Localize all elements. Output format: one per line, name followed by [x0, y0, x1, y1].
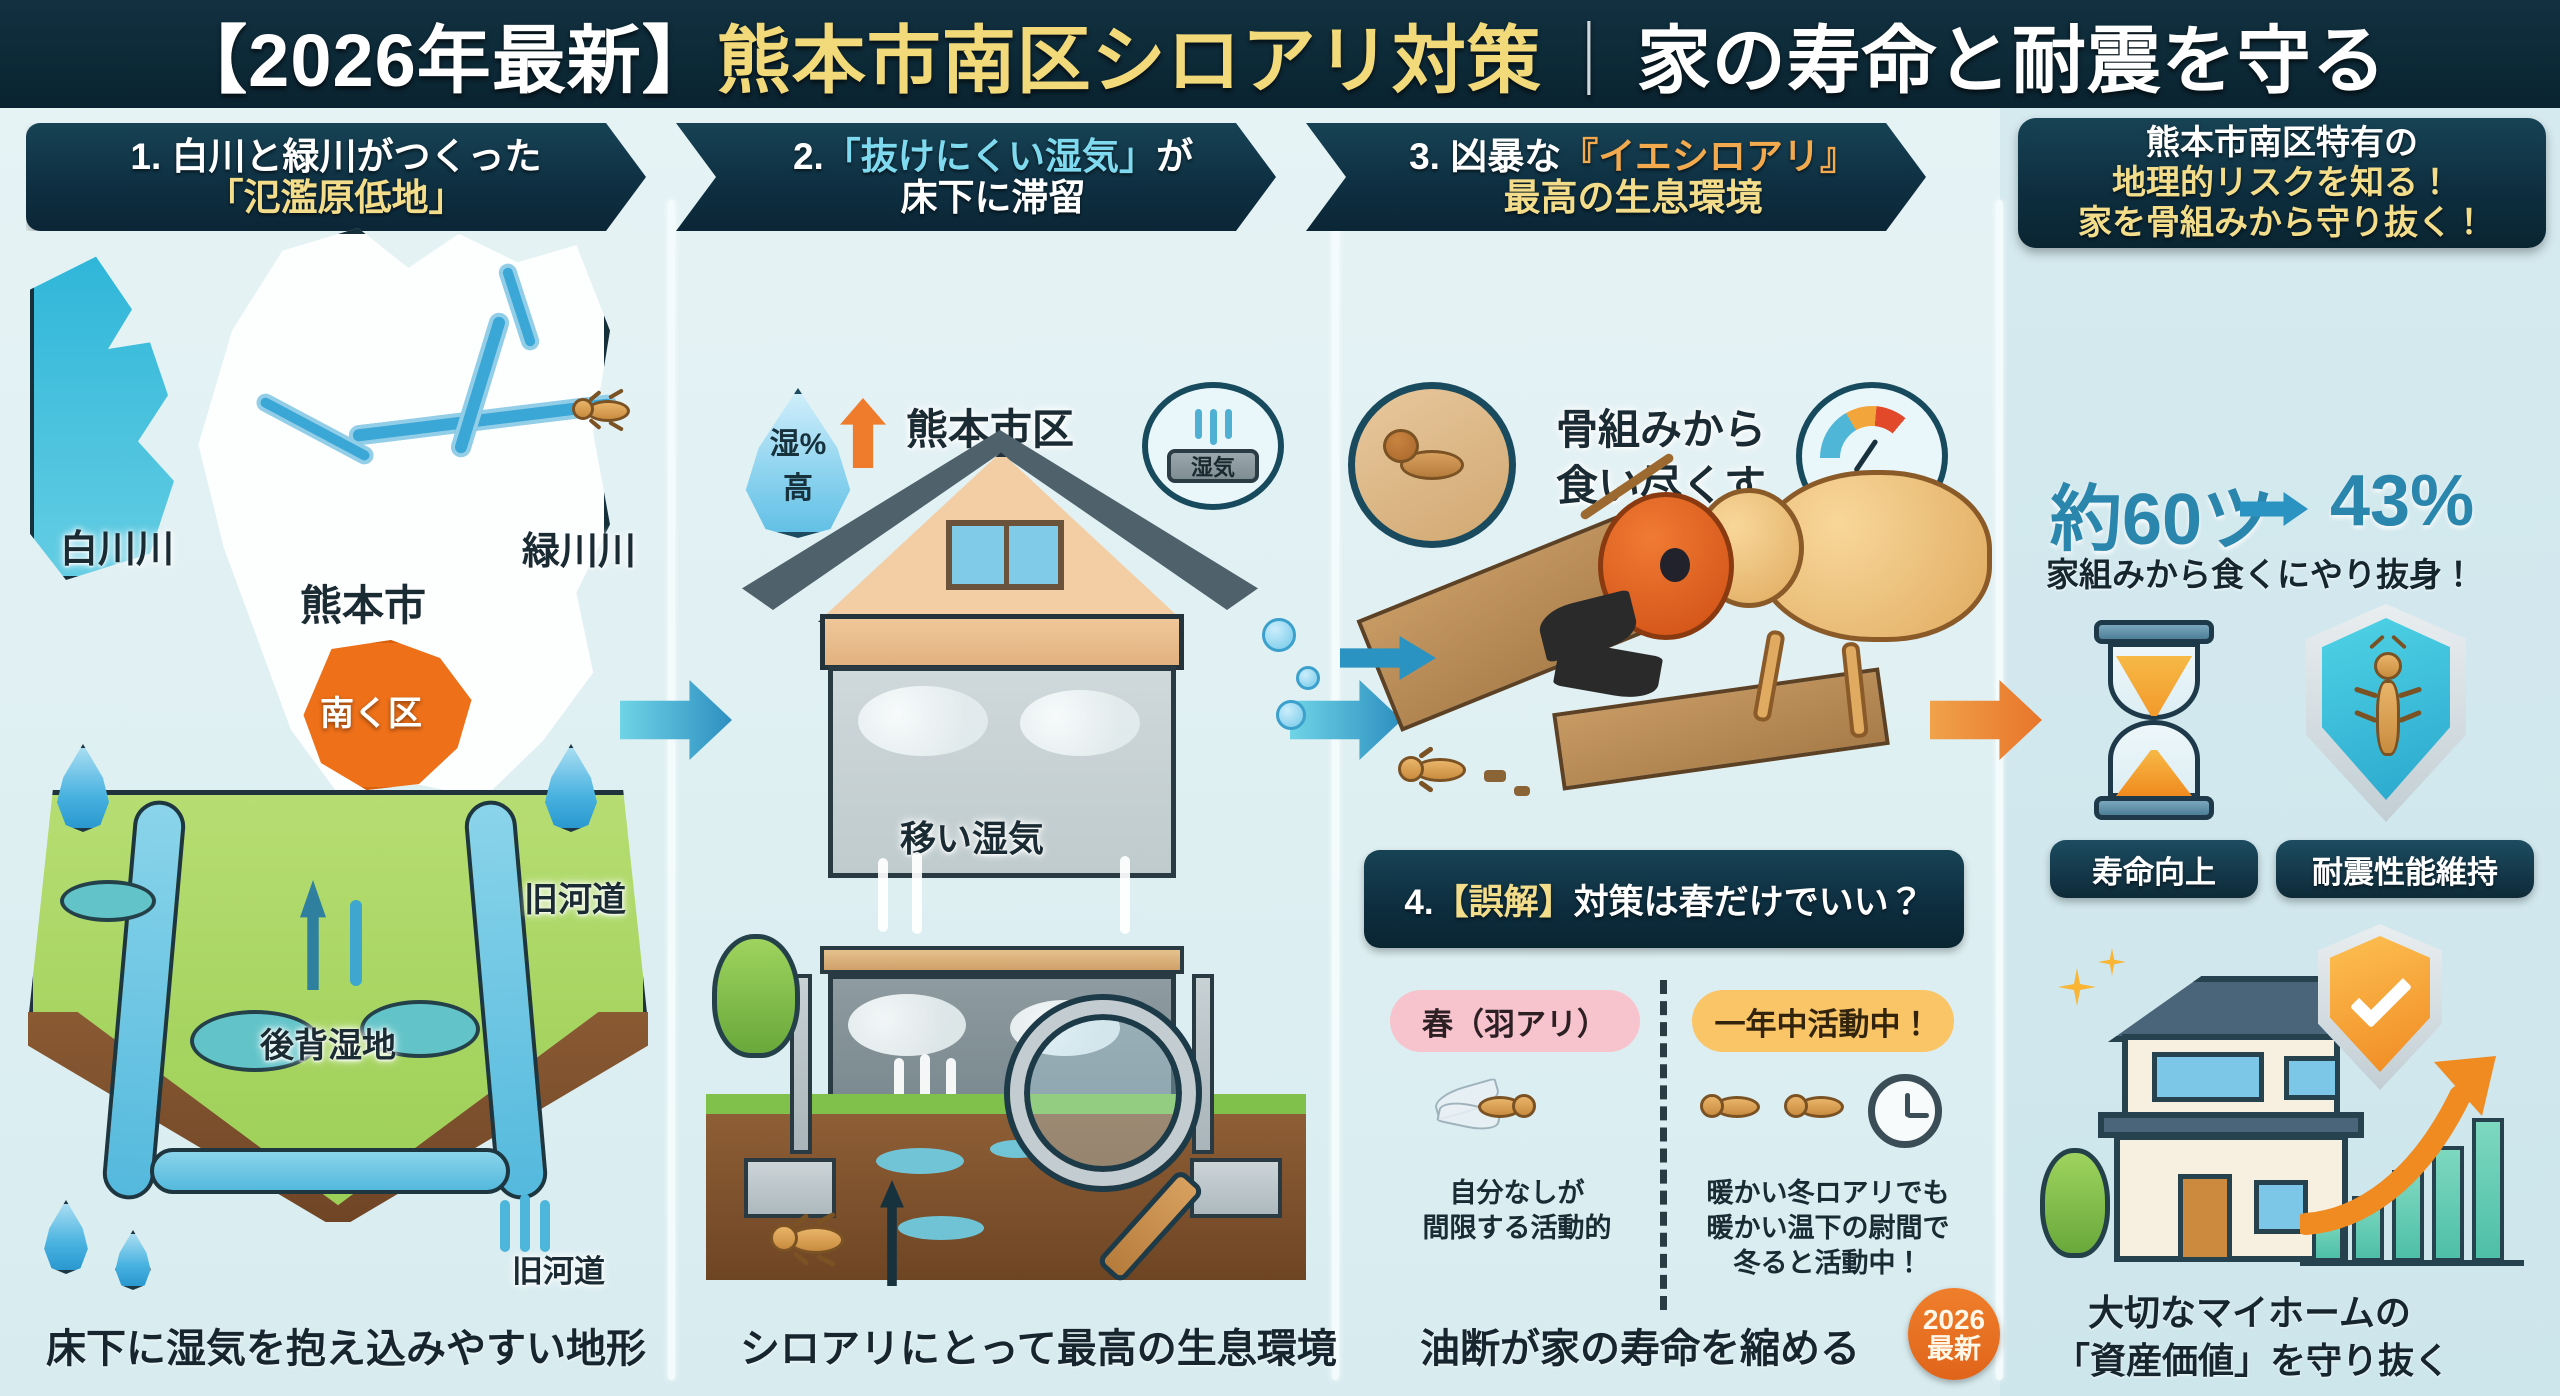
result-header-box: 熊本市南区特有の 地理的リスクを知る！ 家を骨組みから守り抜く！	[2018, 118, 2546, 248]
indoor-humid-cloud-1	[858, 686, 988, 756]
humidity-speech-bubble: 湿気	[1142, 382, 1284, 510]
marsh-pond-1	[60, 880, 156, 922]
old-river-channel-bottom	[150, 1148, 510, 1194]
panel-1-caption: 床下に湿気を抱え込みやすい地形	[46, 1316, 646, 1374]
label-old-channel-right: 旧河道	[524, 872, 626, 921]
indoor-steam-3	[1120, 856, 1130, 934]
step-3-line1-a: 凶暴な	[1450, 136, 1561, 177]
year-badge-label: 最新	[1927, 1335, 1981, 1363]
year-badge: 2026 最新	[1908, 1288, 2000, 1380]
misconception-number: 4.	[1404, 883, 1433, 922]
indoor-steam-2	[912, 852, 922, 934]
water-bubble-3	[1276, 700, 1306, 730]
result-caption-line2: 「資産価値」を守り抜く	[2054, 1332, 2450, 1384]
result-header-line1: 熊本市南区特有の	[2146, 123, 2418, 163]
house-upper-band	[820, 614, 1184, 670]
title-separator: ｜	[1542, 19, 1637, 102]
humidity-drop-top: 湿%	[770, 419, 827, 463]
step-2-line1-rest: が	[1156, 136, 1193, 177]
indoor-humid-cloud-2	[1020, 690, 1140, 756]
step-2-banner: 2.「抜けにくい湿気」が 床下に滞留	[676, 123, 1276, 231]
year-badge-year: 2026	[1923, 1305, 1985, 1334]
stat-subtitle: 家組みから食くにやり抜身！	[2046, 548, 2475, 596]
badge-lifespan: 寿命向上	[2050, 840, 2258, 898]
termite-closeup-bubble	[1348, 382, 1516, 548]
crawl-puddle-1	[876, 1148, 964, 1174]
step-3-line1-highlight: 『イエシロアリ』	[1561, 136, 1857, 177]
step-2-line2: 床下に滞留	[901, 177, 1086, 218]
attic-window-mullion	[1004, 522, 1009, 588]
crawl-puddle-3	[898, 1216, 984, 1240]
panel-divider-1	[668, 200, 675, 1380]
misconception-header: 4.【誤解】対策は春だけでいい？	[1364, 850, 1964, 948]
decor-tree	[712, 934, 800, 1058]
map-label-minami-ward: 南く区	[320, 686, 422, 735]
misconception-rest: 対策は春だけでいい？	[1574, 883, 1924, 922]
misconception-left-text: 自分なしが 間限する活動的	[1392, 1176, 1642, 1246]
steam-line-p1-a	[500, 1200, 510, 1252]
floor-beam	[820, 946, 1184, 974]
step-2-number: 2.	[793, 136, 824, 177]
humidity-tag: 湿気	[1167, 449, 1259, 483]
wood-frass-2	[1514, 786, 1530, 796]
foundation-pillar-right	[1192, 974, 1214, 1154]
chart-baseline	[2300, 1260, 2524, 1266]
map-label-shirakawa: 白川川	[60, 518, 174, 573]
steam-line-p1-c	[540, 1200, 550, 1252]
title-suffix: 家の寿命と耐震を守る	[1637, 19, 2387, 102]
panel-divider-2	[1332, 200, 1339, 1380]
misconception-right-text: 暖かい冬ロアリでも 暖かい温下の尉間で 冬ると活動中！	[1684, 1176, 1972, 1281]
misconception-left-line2: 間限する活動的	[1392, 1211, 1642, 1246]
misconception-bracket: 【誤解】	[1434, 883, 1574, 922]
step-3-number: 3.	[1409, 136, 1440, 177]
title-highlight: 熊本市南区シロアリ対策	[717, 19, 1542, 102]
indoor-steam-1	[878, 858, 888, 932]
step-1-number: 1.	[130, 136, 161, 177]
map-label-midorikawa: 緑川川	[522, 520, 636, 575]
house-tree	[2040, 1148, 2110, 1258]
result-header-line3: 家を骨組みから守り抜く！	[2078, 203, 2486, 243]
result-caption-line1: 大切なマイホームの	[2088, 1284, 2411, 1336]
step-1-line2: 「氾濫原低地」	[207, 177, 466, 218]
result-header-line2: 地理的リスクを知る！	[2112, 163, 2452, 203]
badge-quake-resistance: 耐震性能維持	[2276, 840, 2534, 898]
map-label-kumamoto-city: 熊本市	[300, 572, 426, 633]
house-door	[2178, 1174, 2232, 1262]
steam-line-p1-b	[520, 1194, 530, 1252]
page-header: 【2026年最新】熊本市南区シロアリ対策｜家の寿命と耐震を守る	[0, 0, 2560, 108]
title-prefix: 【2026年最新】	[173, 19, 717, 102]
foundation-block-left	[744, 1158, 836, 1218]
step-1-line1: 白川と緑川がつくった	[172, 136, 542, 177]
water-bubble-1	[1262, 618, 1296, 652]
stat-to-value: 43%	[2330, 460, 2474, 542]
foundation-block-right	[1190, 1158, 1282, 1218]
humidity-drop-bottom: 高	[783, 463, 813, 507]
water-bubble-2	[1296, 666, 1320, 690]
step-2-line1-highlight: 「抜けにくい湿気」	[824, 136, 1156, 177]
misconception-left-line1: 自分なしが	[1392, 1176, 1642, 1211]
growth-arrow	[2300, 1042, 2530, 1238]
misconception-right-line2: 暖かい温下の尉間で	[1684, 1211, 1972, 1246]
misconception-divider	[1660, 980, 1667, 1310]
page-title: 【2026年最新】熊本市南区シロアリ対策｜家の寿命と耐震を守る	[173, 1, 2387, 108]
termite-eat-line1: 骨組みから	[1556, 396, 1766, 457]
misconception-right-line1: 暖かい冬ロアリでも	[1684, 1176, 1972, 1211]
panel-2-caption: シロアリにとって最高の生息環境	[740, 1316, 1337, 1374]
step-1-banner: 1. 白川と緑川がつくった 「氾濫原低地」	[26, 123, 646, 231]
moisture-wave-1	[350, 900, 362, 986]
misconception-right-line3: 冬ると活動中！	[1684, 1246, 1972, 1281]
hourglass-icon	[2090, 620, 2218, 820]
panel-3-caption: 油断が家の寿命を縮める	[1420, 1316, 1860, 1374]
season-pill-yearround: 一年中活動中！	[1692, 990, 1954, 1052]
magnifier-lens	[1010, 1000, 1196, 1186]
wood-frass-1	[1484, 770, 1506, 782]
crawl-cloud-1	[848, 994, 966, 1056]
step-3-line2: 最高の生息環境	[1504, 177, 1763, 218]
season-pill-spring: 春（羽アリ）	[1390, 990, 1640, 1052]
label-old-channel-bottom: 旧河道	[512, 1246, 605, 1291]
panel-divider-3	[1996, 200, 2003, 1380]
infographic-page: 【2026年最新】熊本市南区シロアリ対策｜家の寿命と耐震を守る 1. 白川と緑川…	[0, 0, 2560, 1396]
label-backmarsh: 後背湿地	[260, 1018, 396, 1067]
step-3-banner: 3. 凶暴な『イエシロアリ』 最高の生息環境	[1306, 123, 1926, 231]
termite-eye	[1660, 548, 1690, 582]
clock-icon	[1868, 1074, 1942, 1148]
house-upper-window	[2152, 1052, 2264, 1102]
